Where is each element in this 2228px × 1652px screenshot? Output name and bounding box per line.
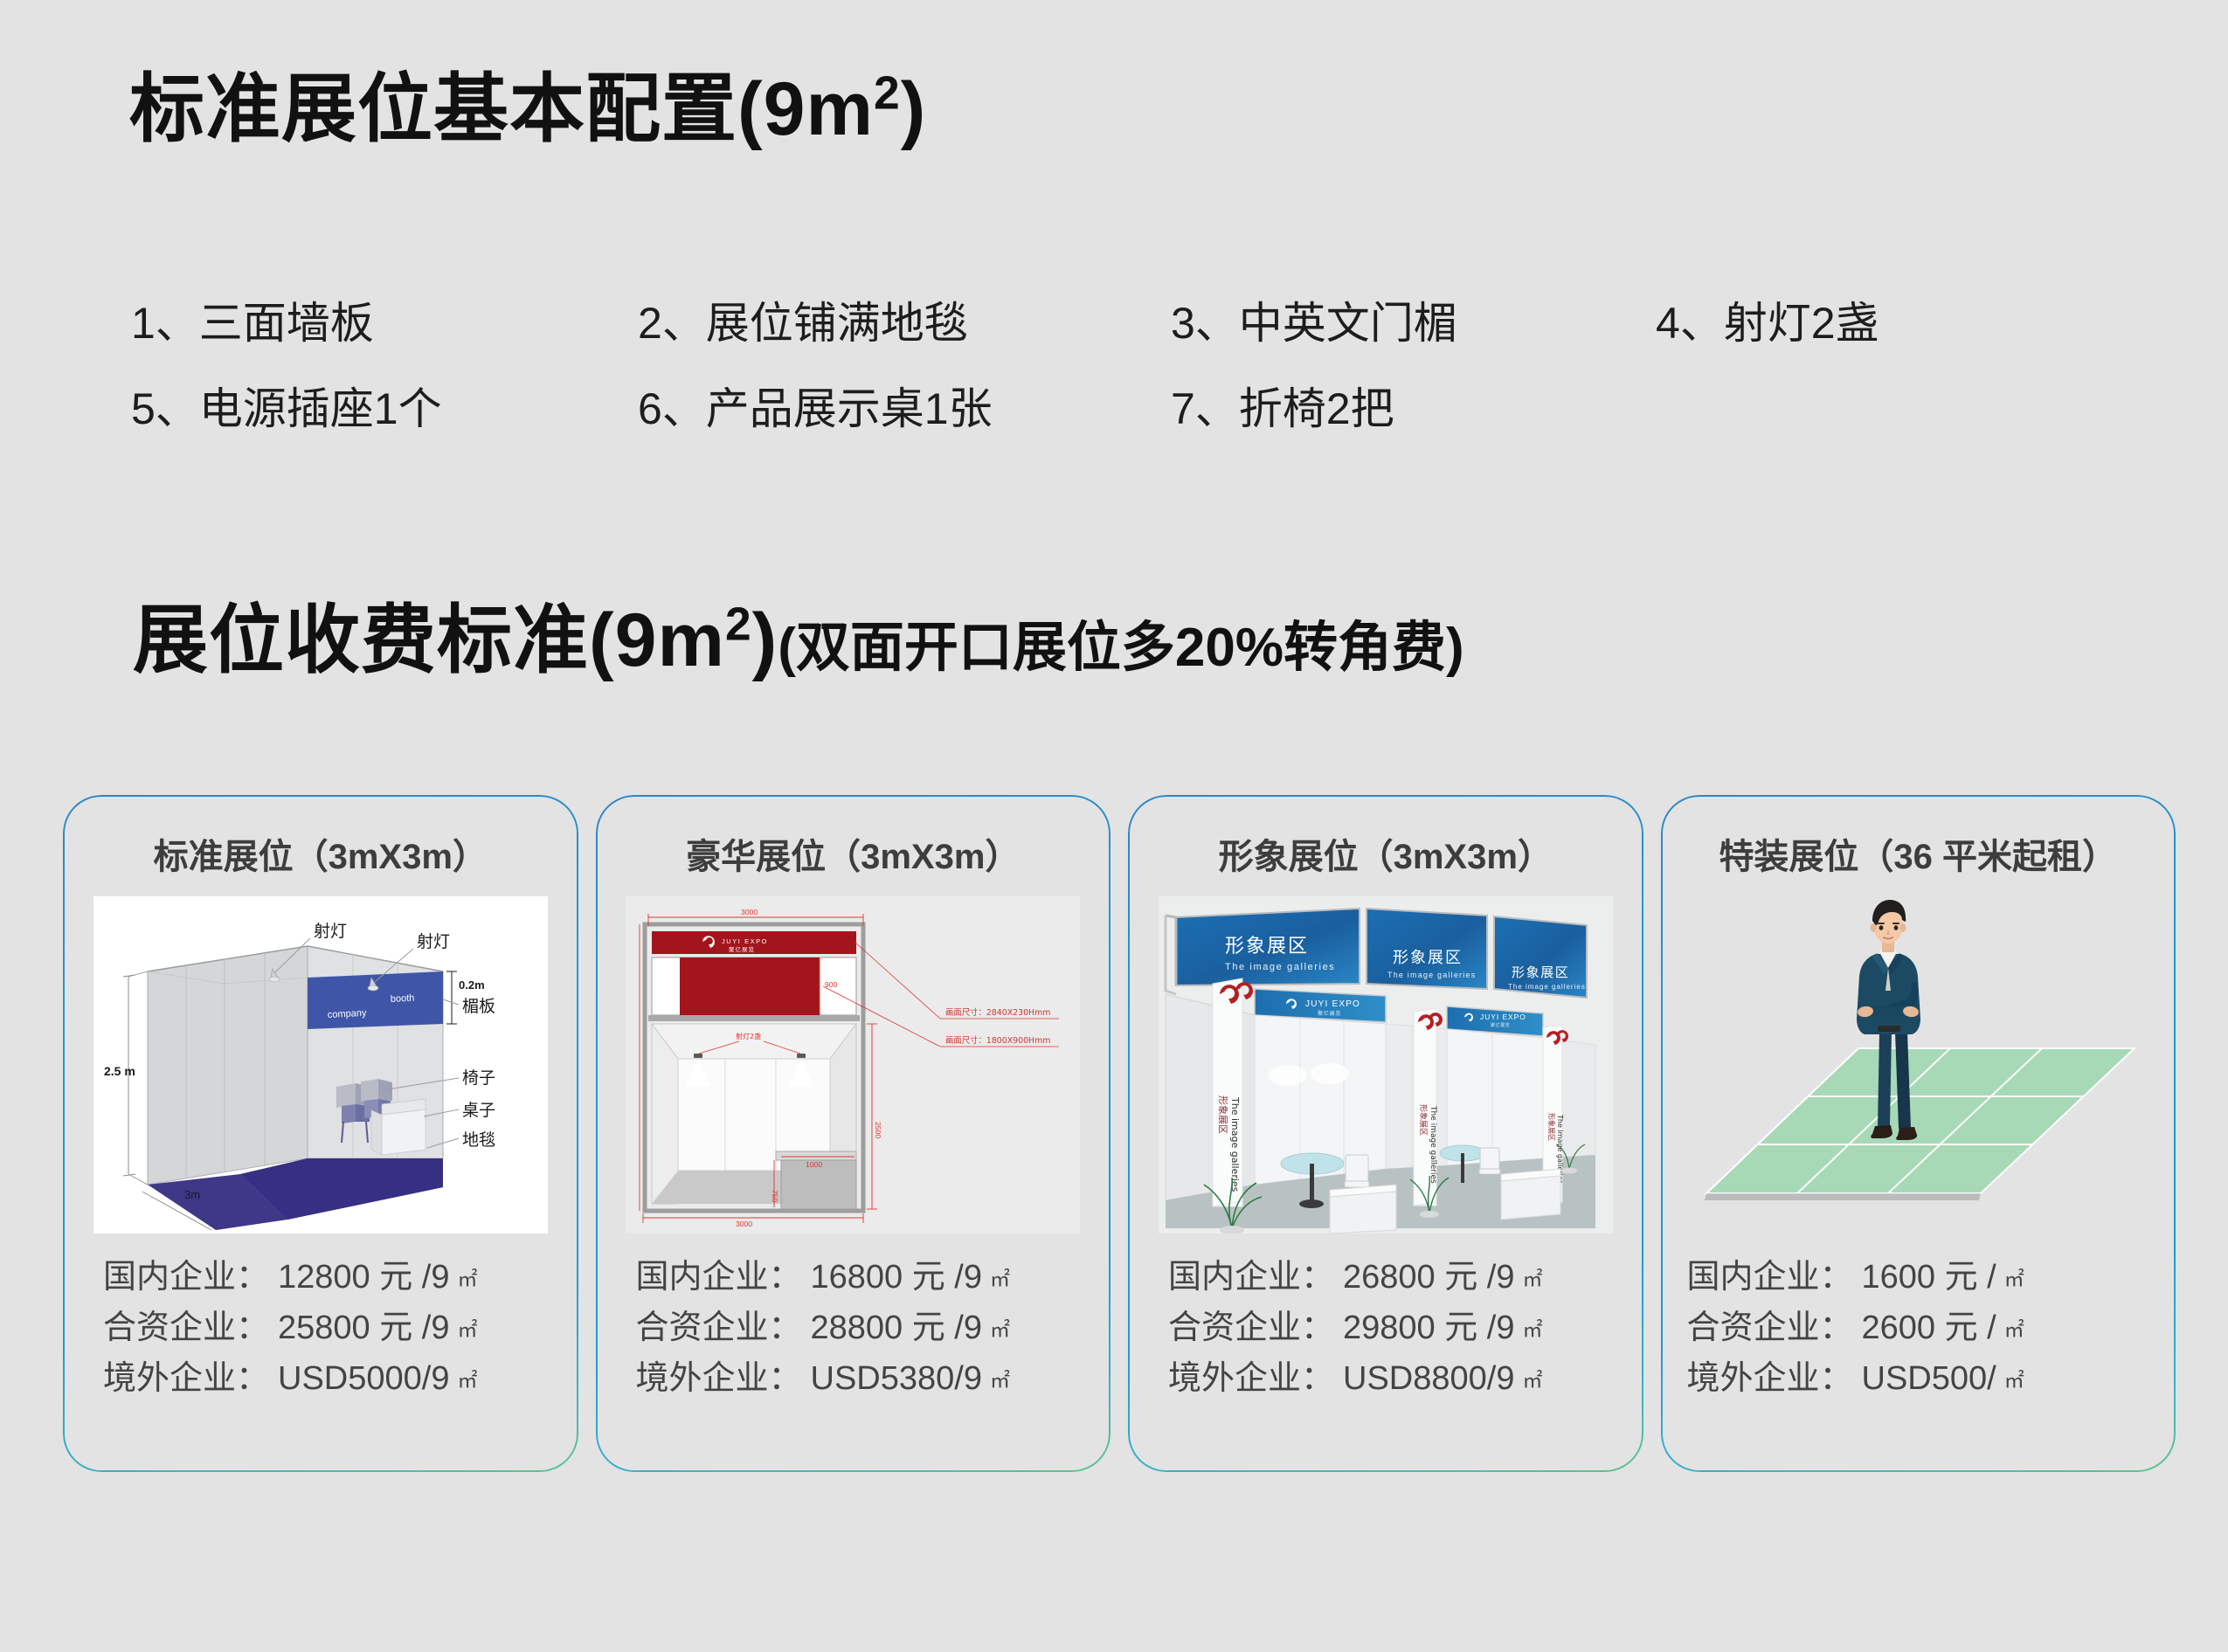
price-label: 国内企业： (636, 1253, 802, 1303)
config-title-text: 标准展位基本配置 (129, 67, 737, 151)
booth-card-title: 豪华展位（3mX3m） (596, 795, 1111, 879)
price-block: 国内企业： 1600 元 / ㎡ 合资企业： 2600 元 / ㎡ 境外企业： … (1661, 1253, 2176, 1404)
price-value: 26800 元 /9 (1343, 1253, 1514, 1303)
price-row-joint-venture: 合资企业： 25800 元 /9 ㎡ (103, 1303, 578, 1354)
config-title-area-close: ) (901, 67, 927, 151)
svg-text:0.2m: 0.2m (459, 978, 485, 992)
price-unit: ㎡ (990, 1315, 1010, 1345)
svg-text:形象展区: 形象展区 (1512, 964, 1569, 980)
price-row-domestic: 国内企业： 16800 元 /9 ㎡ (636, 1253, 1111, 1303)
standard-booth-diagram: company booth (93, 896, 548, 1234)
booth-type-card-list: 标准展位（3mX3m） (63, 795, 2176, 1472)
feature-item-6: 6、产品展示桌1张 (638, 374, 1171, 437)
svg-text:The image galleries: The image galleries (1508, 983, 1586, 991)
svg-text:画面尺寸：2840X230Hmm: 画面尺寸：2840X230Hmm (945, 1007, 1050, 1018)
svg-text:聚亿展览: 聚亿展览 (729, 945, 755, 953)
price-row-domestic: 国内企业： 26800 元 /9 ㎡ (1168, 1253, 1643, 1303)
price-label: 境外企业： (636, 1354, 802, 1405)
svg-text:形象展区: 形象展区 (1393, 949, 1463, 967)
svg-text:JUYI EXPO: JUYI EXPO (1480, 1013, 1526, 1021)
svg-text:The image galleries: The image galleries (1429, 1105, 1437, 1184)
price-unit: ㎡ (1523, 1264, 1543, 1295)
price-row-overseas: 境外企业： USD5000/9 ㎡ (103, 1354, 578, 1405)
price-value: 2600 元 / (1862, 1303, 1996, 1354)
booth-card-image[interactable]: 形象展位（3mX3m） (1128, 795, 1643, 1472)
feature-item-4: 4、射灯2盏 (1656, 288, 2023, 351)
price-label: 境外企业： (1168, 1354, 1334, 1405)
price-label: 合资企业： (636, 1303, 802, 1354)
feature-item-3: 3、中英文门楣 (1171, 288, 1656, 351)
price-title-area-open: (9m (589, 598, 725, 682)
price-unit: ㎡ (1523, 1315, 1543, 1345)
price-title-note: (双面开口展位多20%转角费) (778, 618, 1463, 678)
svg-text:射灯2盏: 射灯2盏 (736, 1032, 761, 1040)
booth-card-title: 特装展位（36 平米起租） (1661, 795, 2176, 879)
price-value: 16800 元 /9 (811, 1253, 982, 1303)
price-unit: ㎡ (458, 1315, 478, 1345)
svg-text:750: 750 (771, 1190, 779, 1203)
deluxe-booth-diagram: JUYI EXPO 聚亿展览 (626, 896, 1080, 1234)
svg-text:形象展区: 形象展区 (1547, 1113, 1556, 1141)
feature-item-7: 7、折椅2把 (1171, 374, 1656, 437)
price-title-area-close: ) (752, 598, 778, 682)
feature-item-2: 2、展位铺满地毯 (638, 288, 1171, 351)
price-unit: ㎡ (458, 1264, 478, 1295)
price-label: 国内企业： (1168, 1253, 1334, 1303)
svg-text:2.5 m: 2.5 m (104, 1064, 135, 1078)
booth-card-deluxe[interactable]: 豪华展位（3mX3m） JUYI EXPO 聚亿展览 (596, 795, 1111, 1472)
price-row-joint-venture: 合资企业： 2600 元 / ㎡ (1687, 1303, 2176, 1354)
svg-text:聚亿展览: 聚亿展览 (1318, 1010, 1341, 1017)
price-unit: ㎡ (2004, 1315, 2024, 1345)
image-booth-render: 形象展区 The image galleries 形象展区 The image … (1159, 896, 1613, 1234)
price-row-domestic: 国内企业： 1600 元 / ㎡ (1687, 1253, 2176, 1303)
price-label: 境外企业： (103, 1354, 269, 1405)
svg-text:The image galleries: The image galleries (1229, 1096, 1241, 1192)
price-value: USD500/ (1862, 1354, 1996, 1405)
svg-text:The image galleries: The image galleries (1225, 962, 1335, 972)
price-label: 合资企业： (103, 1303, 269, 1354)
svg-text:JUYI EXPO: JUYI EXPO (1305, 999, 1360, 1009)
price-value: 28800 元 /9 (811, 1303, 982, 1354)
svg-text:楣板: 楣板 (462, 997, 495, 1016)
svg-text:booth: booth (390, 993, 414, 1005)
price-value: USD5000/9 (278, 1354, 449, 1405)
svg-text:桌子: 桌子 (462, 1101, 495, 1120)
price-value: 25800 元 /9 (278, 1303, 449, 1354)
price-value: USD5380/9 (811, 1354, 982, 1405)
svg-text:聚亿展览: 聚亿展览 (1491, 1022, 1510, 1028)
price-unit: ㎡ (2004, 1365, 2024, 1396)
price-label: 合资企业： (1687, 1303, 1853, 1354)
price-label: 合资企业： (1168, 1303, 1334, 1354)
price-value: 29800 元 /9 (1343, 1303, 1514, 1354)
price-unit: ㎡ (457, 1365, 477, 1396)
custom-booth-illustration (1691, 896, 2145, 1234)
svg-text:形象展区: 形象展区 (1217, 1096, 1228, 1134)
price-unit: ㎡ (1522, 1365, 1542, 1396)
page-title-pricing: 展位收费标准(9m2)(双面开口展位多20%转角费) (133, 603, 1464, 678)
price-block: 国内企业： 26800 元 /9 ㎡ 合资企业： 29800 元 /9 ㎡ 境外… (1128, 1253, 1643, 1404)
price-unit: ㎡ (990, 1365, 1010, 1396)
feature-list: 1、三面墙板 2、展位铺满地毯 3、中英文门楣 4、射灯2盏 5、电源插座1个 … (131, 288, 2097, 460)
svg-text:椅子: 椅子 (462, 1068, 495, 1088)
svg-text:3000: 3000 (741, 908, 758, 916)
price-value: USD8800/9 (1343, 1354, 1514, 1405)
price-row-joint-venture: 合资企业： 29800 元 /9 ㎡ (1168, 1303, 1643, 1354)
svg-text:The image galleries: The image galleries (1387, 971, 1476, 979)
price-value: 1600 元 / (1862, 1253, 1996, 1303)
price-row-domestic: 国内企业： 12800 元 /9 ㎡ (103, 1253, 578, 1303)
price-row-joint-venture: 合资企业： 28800 元 /9 ㎡ (636, 1303, 1111, 1354)
feature-row-2: 5、电源插座1个 6、产品展示桌1张 7、折椅2把 (131, 374, 2097, 460)
svg-text:3m: 3m (184, 1188, 200, 1201)
config-title-area-open: (9m (737, 67, 874, 151)
price-label: 境外企业： (1687, 1354, 1853, 1405)
price-block: 国内企业： 16800 元 /9 ㎡ 合资企业： 28800 元 /9 ㎡ 境外… (596, 1253, 1111, 1404)
price-row-overseas: 境外企业： USD8800/9 ㎡ (1168, 1354, 1643, 1405)
svg-text:3000: 3000 (736, 1220, 752, 1228)
booth-card-custom[interactable]: 特装展位（36 平米起租） (1661, 795, 2176, 1472)
svg-text:形象展区: 形象展区 (1418, 1104, 1429, 1136)
svg-text:900: 900 (825, 980, 838, 989)
price-title-area-sup: 2 (725, 598, 752, 650)
price-unit: ㎡ (990, 1264, 1010, 1295)
svg-text:地毯: 地毯 (462, 1130, 495, 1150)
booth-card-title: 标准展位（3mX3m） (63, 795, 578, 879)
booth-card-title: 形象展位（3mX3m） (1128, 795, 1643, 879)
svg-text:2500: 2500 (874, 1122, 882, 1138)
price-label: 国内企业： (103, 1253, 269, 1303)
svg-text:1000: 1000 (806, 1160, 822, 1169)
price-value: 12800 元 /9 (278, 1253, 449, 1303)
feature-row-1: 1、三面墙板 2、展位铺满地毯 3、中英文门楣 4、射灯2盏 (131, 288, 2097, 374)
page-title-configuration: 标准展位基本配置(9m2) (129, 72, 926, 147)
svg-text:射灯: 射灯 (314, 922, 347, 941)
price-label: 国内企业： (1687, 1253, 1853, 1303)
svg-text:画面尺寸：1800X900Hmm: 画面尺寸：1800X900Hmm (945, 1035, 1050, 1046)
svg-text:JUYI EXPO: JUYI EXPO (722, 937, 768, 945)
booth-card-standard[interactable]: 标准展位（3mX3m） (63, 795, 578, 1472)
price-row-overseas: 境外企业： USD500/ ㎡ (1687, 1354, 2176, 1405)
price-row-overseas: 境外企业： USD5380/9 ㎡ (636, 1354, 1111, 1405)
price-title-text: 展位收费标准 (133, 598, 589, 682)
price-unit: ㎡ (2004, 1264, 2024, 1295)
svg-text:company: company (327, 1008, 367, 1020)
feature-item-5: 5、电源插座1个 (131, 374, 638, 437)
feature-item-1: 1、三面墙板 (131, 288, 638, 351)
config-title-area-sup: 2 (874, 67, 901, 119)
price-block: 国内企业： 12800 元 /9 ㎡ 合资企业： 25800 元 /9 ㎡ 境外… (63, 1253, 578, 1404)
svg-text:形象展区: 形象展区 (1225, 936, 1309, 957)
svg-text:射灯: 射灯 (417, 932, 450, 951)
